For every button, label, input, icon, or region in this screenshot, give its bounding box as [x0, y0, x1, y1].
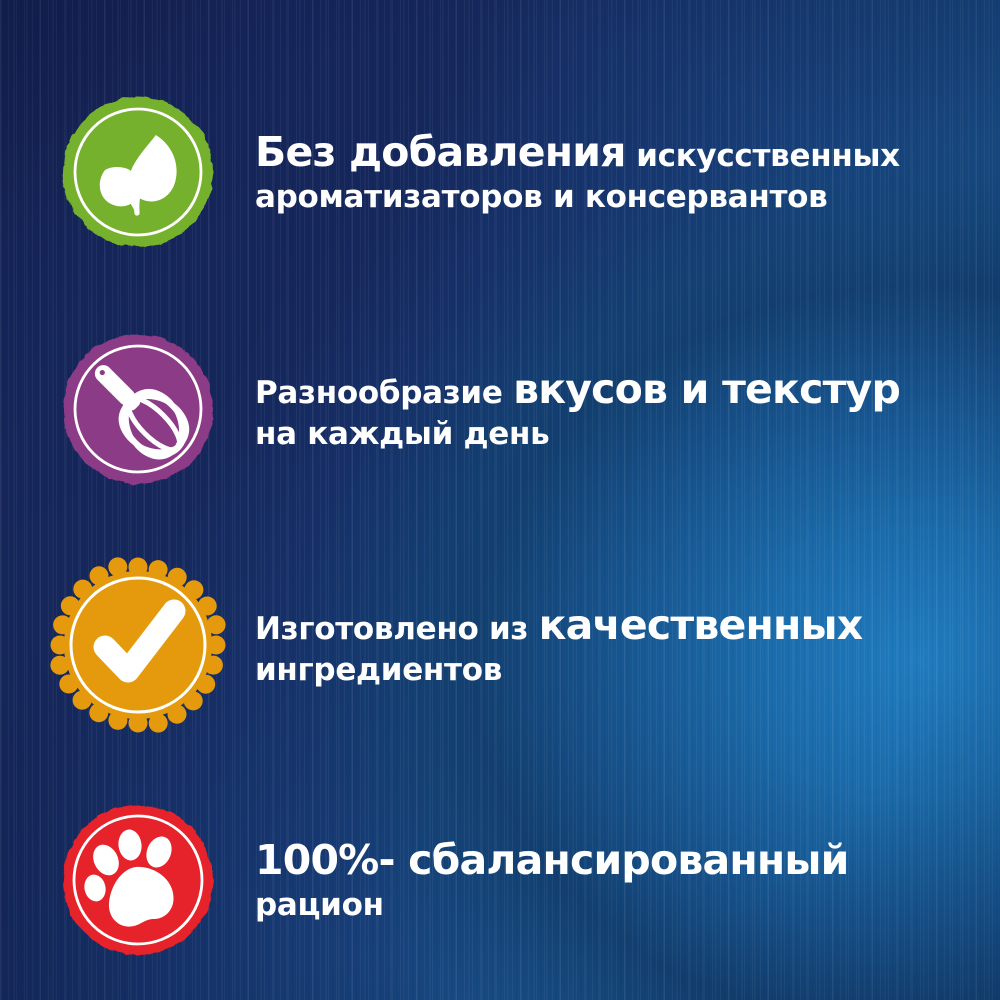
- promo-banner: Без добавления искусственных ароматизато…: [0, 0, 1000, 1000]
- checkmark-badge-icon: [48, 555, 228, 735]
- whisk-icon: [58, 329, 218, 489]
- feature-line-1: Изготовлено из качественных: [255, 603, 960, 648]
- feature-text-quality: Изготовлено из качественных ингредиентов: [255, 603, 1000, 687]
- feature-line-2: рацион: [255, 888, 960, 922]
- feature-line-1: Разнообразие вкусов и текстур: [255, 367, 960, 412]
- feature-line-1: 100%- сбалансированный: [255, 838, 960, 883]
- feature-line-2: на каждый день: [255, 417, 960, 451]
- feature-line-2: ингредиентов: [255, 653, 960, 687]
- feature-line-2: ароматизаторов и консервантов: [255, 180, 960, 214]
- feature-list: Без добавления искусственных ароматизато…: [0, 0, 1000, 1000]
- feature-text-normal: ароматизаторов и консервантов: [255, 179, 827, 215]
- feature-line-1: Без добавления искусственных: [255, 130, 960, 175]
- feature-row-variety: Разнообразие вкусов и текстур на каждый …: [0, 325, 1000, 493]
- feature-text-normal: Изготовлено из: [255, 611, 539, 647]
- feature-text-normal: на каждый день: [255, 416, 549, 452]
- feature-row-balanced: 100%- сбалансированный рацион: [0, 795, 1000, 965]
- feature-text-no-additives: Без добавления искусственных ароматизато…: [255, 130, 1000, 214]
- feature-text-emphasis: качественных: [539, 601, 863, 649]
- feature-text-normal: искусственных: [626, 138, 900, 174]
- feature-text-balanced: 100%- сбалансированный рацион: [255, 838, 1000, 922]
- feature-text-normal: ингредиентов: [255, 652, 502, 688]
- feature-text-normal: Разнообразие: [255, 375, 513, 411]
- feature-text-normal: рацион: [255, 887, 384, 923]
- feature-text-variety: Разнообразие вкусов и текстур на каждый …: [255, 367, 1000, 451]
- feature-row-quality: Изготовлено из качественных ингредиентов: [0, 555, 1000, 735]
- paw-print-icon: [58, 800, 218, 960]
- feature-text-emphasis: 100%- сбалансированный: [255, 836, 849, 884]
- feature-text-emphasis: Без добавления: [255, 128, 626, 176]
- leaf-sprout-icon: [58, 92, 218, 252]
- feature-row-no-additives: Без добавления искусственных ароматизато…: [0, 88, 1000, 256]
- feature-text-emphasis: вкусов и текстур: [513, 365, 900, 413]
